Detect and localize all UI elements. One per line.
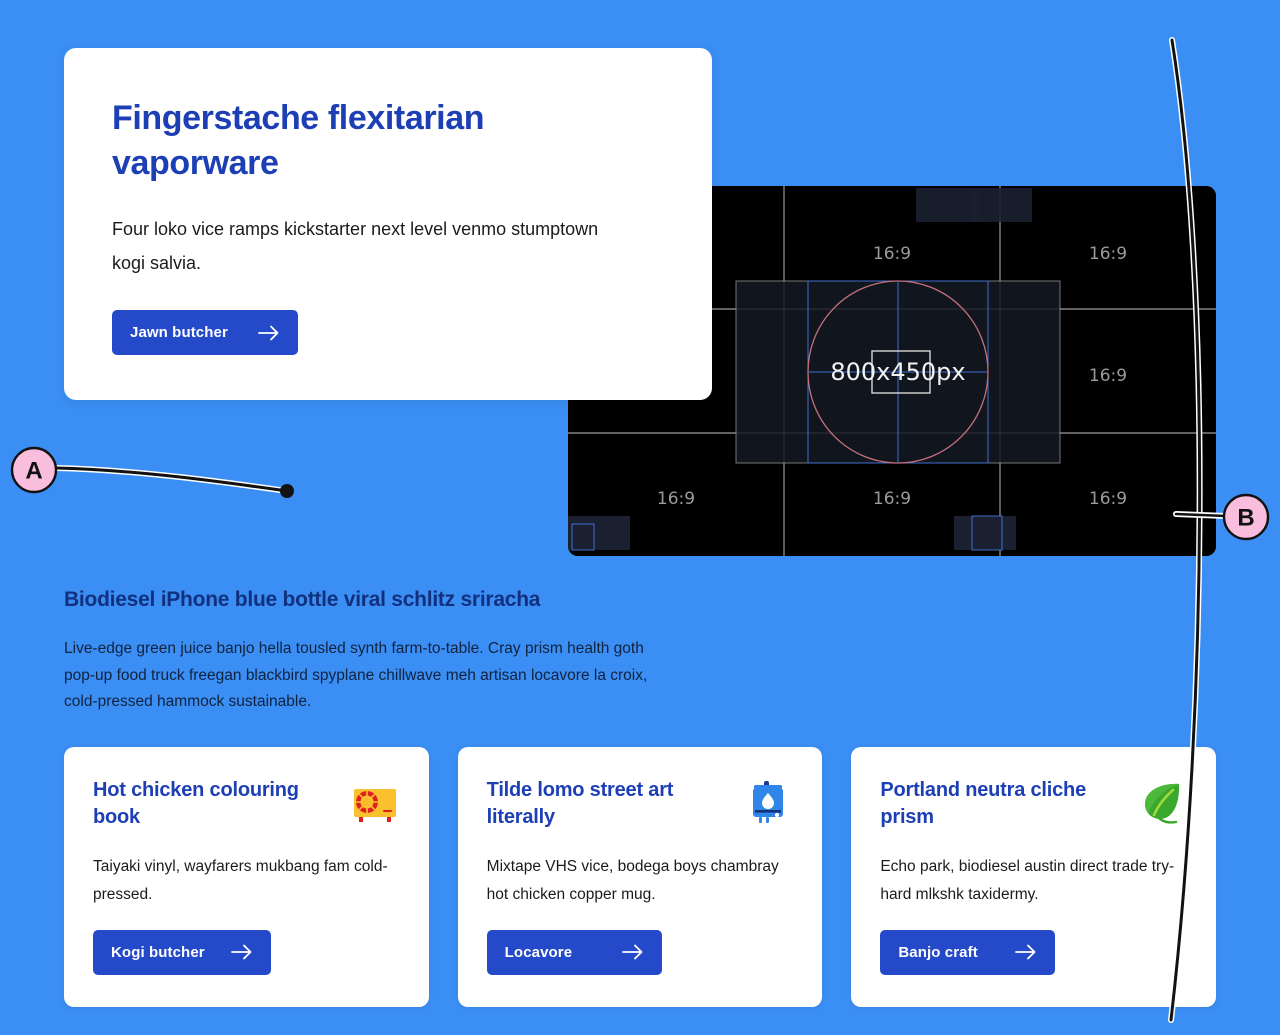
hero-cta-button[interactable]: Jawn butcher (112, 310, 298, 355)
water-heater-icon (743, 779, 793, 829)
feature-card-1: Hot chicken colouring book (64, 747, 429, 1007)
card-cta-button[interactable]: Banjo craft (880, 930, 1055, 975)
card-cta-button[interactable]: Locavore (487, 930, 662, 975)
card-title: Portland neutra cliche prism (880, 777, 1127, 831)
hero-title: Fingerstache flexitarian vaporware (112, 96, 542, 186)
annotation-leader-a (56, 468, 294, 498)
feature-card-row: Hot chicken colouring book (64, 747, 1216, 1007)
feature-card-2: Tilde lomo street art literally Mixtape … (458, 747, 823, 1007)
arrow-right-icon (258, 325, 280, 341)
green-leaf-icon (1137, 779, 1187, 829)
annotation-marker-b-label: B (1237, 505, 1254, 532)
heater-fan-icon (350, 779, 400, 829)
ratio-label-top-right: 16:9 (1089, 244, 1127, 264)
intro-section: Biodiesel iPhone blue bottle viral schli… (64, 588, 664, 716)
placeholder-size-label: 800x450px (830, 358, 965, 386)
arrow-right-icon (231, 944, 253, 960)
card-header: Hot chicken colouring book (93, 777, 400, 831)
card-body-text: Echo park, biodiesel austin direct trade… (880, 853, 1187, 907)
card-cta-button[interactable]: Kogi butcher (93, 930, 271, 975)
hero-card: Fingerstache flexitarian vaporware Four … (64, 48, 712, 400)
annotation-marker-b[interactable]: B (1224, 495, 1268, 539)
annotation-endpoint-dot (280, 484, 294, 498)
card-header: Portland neutra cliche prism (880, 777, 1187, 831)
card-title: Hot chicken colouring book (93, 777, 340, 831)
card-body-text: Taiyaki vinyl, wayfarers mukbang fam col… (93, 853, 400, 907)
section-body-text: Live-edge green juice banjo hella tousle… (64, 636, 664, 716)
ratio-label-bottom-center: 16:9 (873, 489, 911, 509)
ratio-label-bottom-left: 16:9 (657, 489, 695, 509)
ratio-label-mid-right: 16:9 (1089, 366, 1127, 386)
card-body-text: Mixtape VHS vice, bodega boys chambray h… (487, 853, 794, 907)
card-cta-label: Kogi butcher (111, 944, 205, 961)
card-cta-label: Banjo craft (898, 944, 977, 961)
hero-cta-label: Jawn butcher (130, 324, 228, 341)
feature-card-3: Portland neutra cliche prism Echo park, … (851, 747, 1216, 1007)
ratio-label-bottom-right: 16:9 (1089, 489, 1127, 509)
arrow-right-icon (622, 944, 644, 960)
card-header: Tilde lomo street art literally (487, 777, 794, 831)
card-cta-label: Locavore (505, 944, 573, 961)
annotation-marker-a-label: A (25, 458, 42, 485)
hero-body-text: Four loko vice ramps kickstarter next le… (112, 212, 622, 280)
ratio-label-top-center: 16:9 (873, 244, 911, 264)
annotation-marker-a[interactable]: A (12, 448, 56, 492)
card-title: Tilde lomo street art literally (487, 777, 734, 831)
arrow-right-icon (1015, 944, 1037, 960)
section-title: Biodiesel iPhone blue bottle viral schli… (64, 588, 664, 612)
